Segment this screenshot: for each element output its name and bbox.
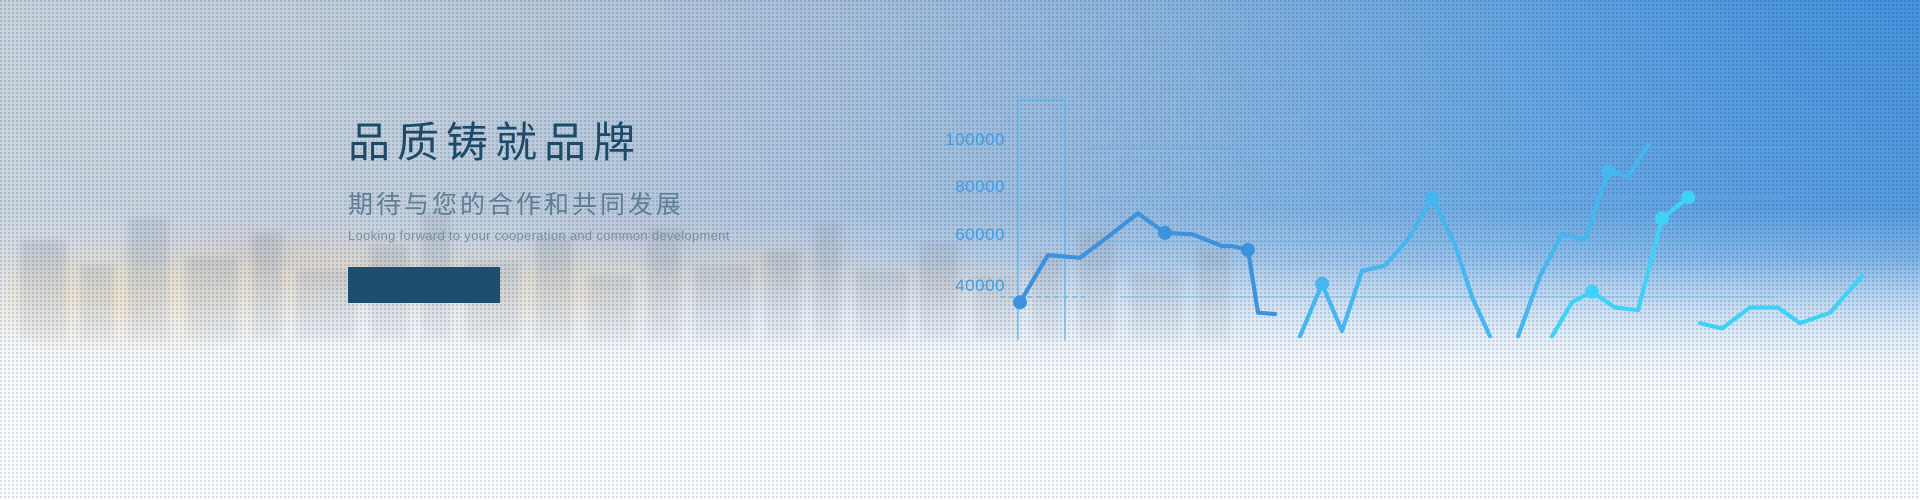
chart-gridlines bbox=[1090, 148, 1790, 297]
learn-more-button[interactable] bbox=[348, 267, 500, 303]
banner-copy: 品质铸就品牌 期待与您的合作和共同发展 Looking forward to y… bbox=[348, 118, 908, 303]
chart-data-point-marker bbox=[1241, 243, 1255, 257]
page-title: 品质铸就品牌 bbox=[348, 118, 908, 168]
chart-data-point-marker bbox=[1585, 285, 1599, 299]
ytick-label: 60000 bbox=[955, 225, 1005, 244]
ytick-label: 80000 bbox=[955, 177, 1005, 196]
chart-line-series-2-mid-blue bbox=[1300, 198, 1490, 337]
statistics-line-chart: 100000 80000 60000 40000 bbox=[0, 0, 1920, 500]
ytick-label: 40000 bbox=[955, 276, 1005, 295]
chart-line-series-1-dark-blue bbox=[1020, 213, 1275, 314]
ytick-label: 100000 bbox=[945, 130, 1005, 149]
hero-banner: 100000 80000 60000 40000 品质铸就品牌 期待与您的合作和… bbox=[0, 0, 1920, 500]
chart-data-point-marker bbox=[1601, 164, 1615, 178]
chart-data-point-marker bbox=[1158, 226, 1172, 240]
chart-line-series-5-cyan-top bbox=[1700, 276, 1862, 328]
chart-data-point-marker bbox=[1681, 191, 1695, 205]
subtitle-chinese: 期待与您的合作和共同发展 bbox=[348, 190, 908, 221]
chart-y-axis-labels: 100000 80000 60000 40000 bbox=[945, 130, 1005, 295]
chart-series-layer bbox=[1013, 145, 1862, 336]
chart-data-point-marker bbox=[1655, 212, 1669, 226]
chart-data-point-marker bbox=[1013, 295, 1027, 309]
chart-data-point-marker bbox=[1425, 191, 1439, 205]
chart-data-point-marker bbox=[1315, 277, 1329, 291]
subtitle-english: Looking forward to your cooperation and … bbox=[348, 228, 908, 245]
